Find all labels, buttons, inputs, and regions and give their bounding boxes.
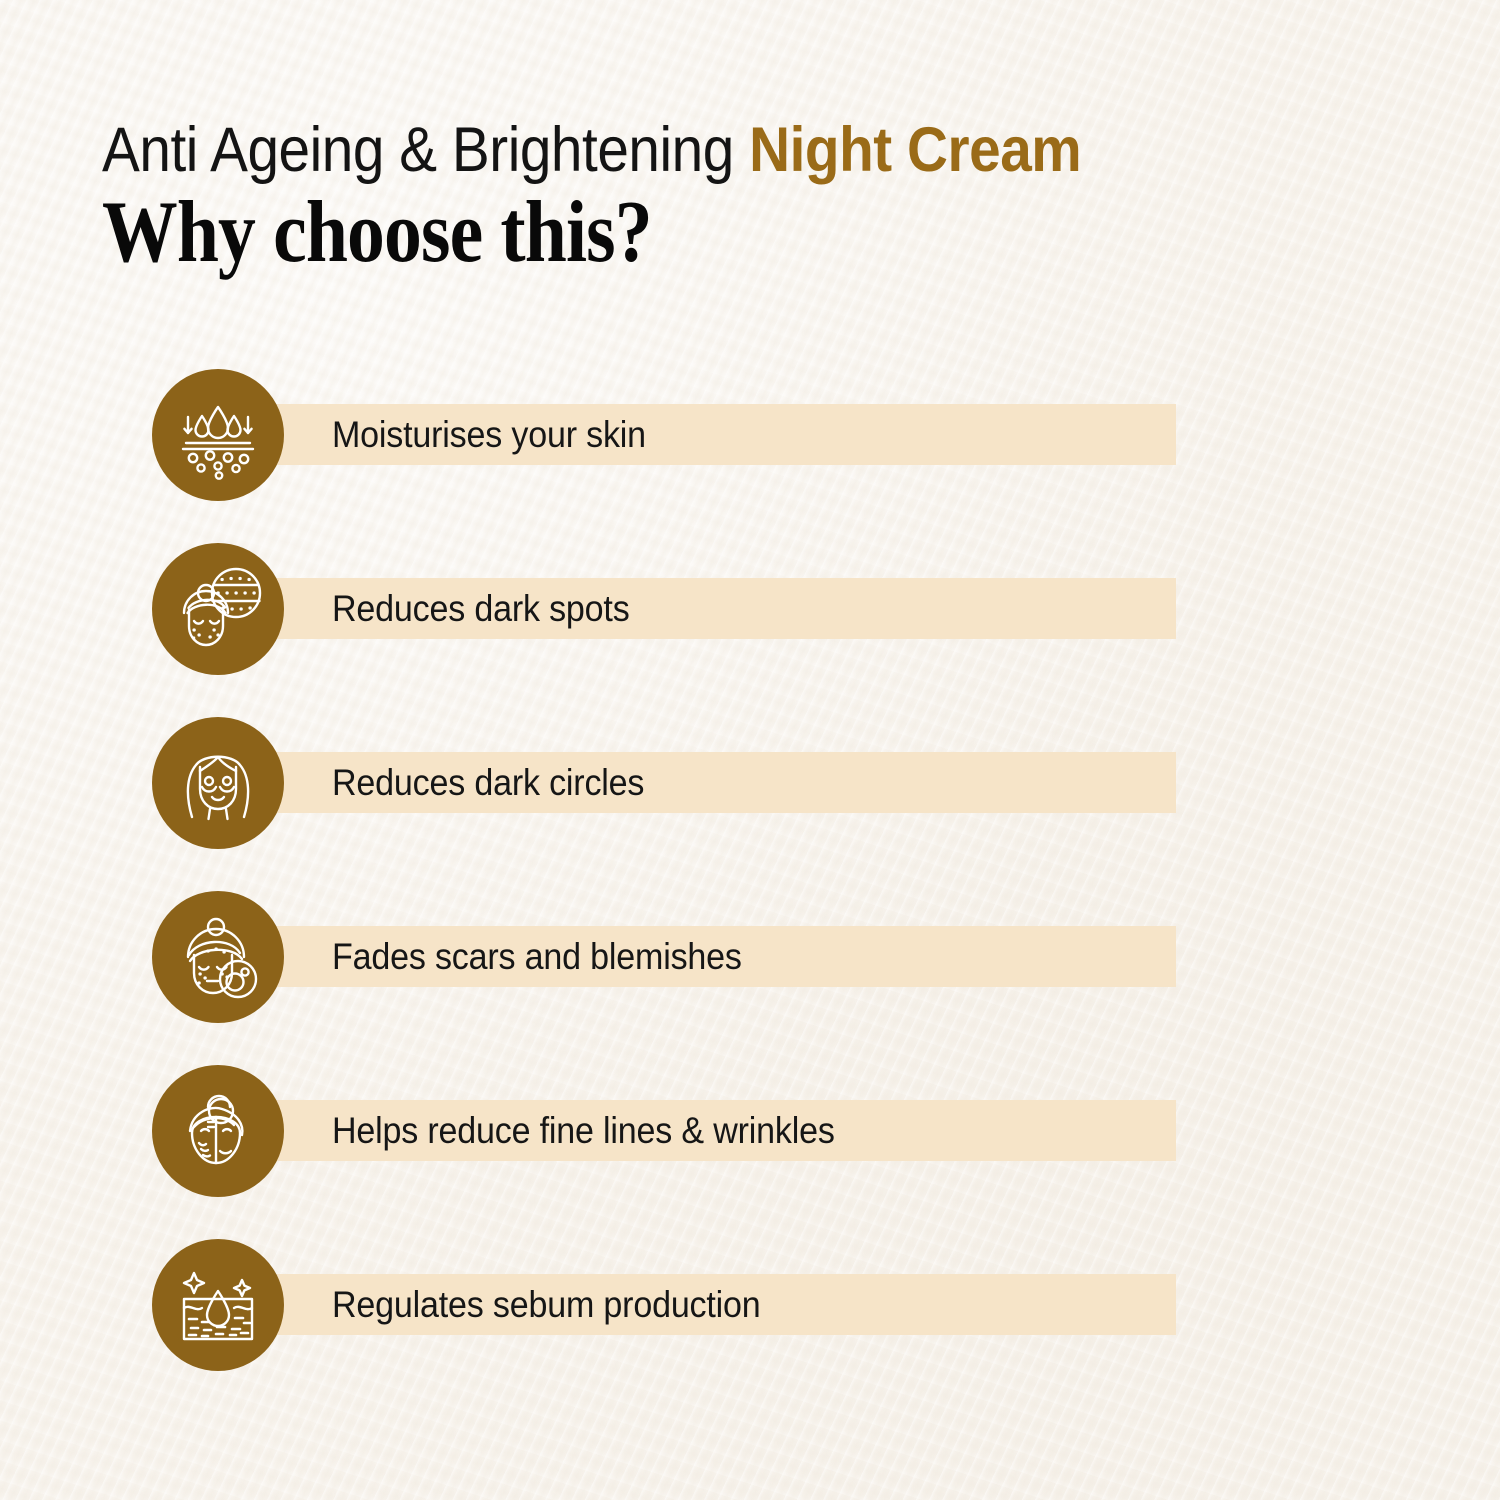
benefit-row: Moisturises your skin: [0, 369, 1500, 501]
face-blemishes-magnifier-icon: [152, 891, 284, 1023]
headline-block: Anti Ageing & Brightening Night Cream Wh…: [102, 118, 1402, 278]
benefit-label: Regulates sebum production: [332, 1274, 761, 1335]
benefit-list: Moisturises your skin: [0, 369, 1500, 1371]
headline-eyebrow-accent: Night Cream: [749, 115, 1081, 185]
benefit-label: Reduces dark circles: [332, 752, 644, 813]
benefit-row: Reduces dark circles: [0, 717, 1500, 849]
benefit-row: Helps reduce fine lines & wrinkles: [0, 1065, 1500, 1197]
face-dark-circles-icon: [152, 717, 284, 849]
face-split-wrinkles-icon: [152, 1065, 284, 1197]
benefit-row: Fades scars and blemishes: [0, 891, 1500, 1023]
skin-layer-sebum-droplet-icon: [152, 1239, 284, 1371]
benefit-label: Moisturises your skin: [332, 404, 646, 465]
benefit-label: Helps reduce fine lines & wrinkles: [332, 1100, 835, 1161]
benefit-label: Fades scars and blemishes: [332, 926, 742, 987]
headline-eyebrow-plain: Anti Ageing & Brightening: [102, 115, 749, 185]
benefit-label: Reduces dark spots: [332, 578, 630, 639]
benefit-row: Reduces dark spots: [0, 543, 1500, 675]
headline-eyebrow: Anti Ageing & Brightening Night Cream: [102, 118, 1272, 182]
page-title: Why choose this?: [102, 188, 1220, 278]
benefit-row: Regulates sebum production: [0, 1239, 1500, 1371]
skin-hydration-droplets-icon: [152, 369, 284, 501]
promo-graphic: Anti Ageing & Brightening Night Cream Wh…: [0, 0, 1500, 1500]
face-dark-spots-magnified-icon: [152, 543, 284, 675]
